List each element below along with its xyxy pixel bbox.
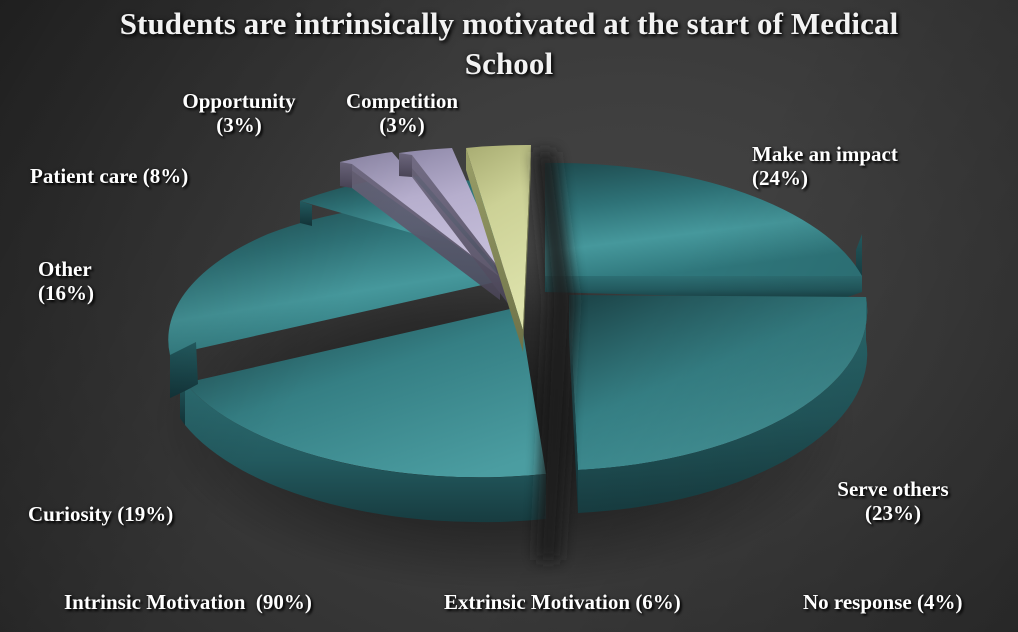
slice-label-other-pct: (16%) xyxy=(38,281,94,305)
slice-label-other-name: Other xyxy=(38,257,92,281)
slice-label-make-an-impact: Make an impact(24%) xyxy=(752,143,952,190)
slice-label-serve-others: Serve others(23%) xyxy=(813,478,973,525)
slice-label-other: Other(16%) xyxy=(38,258,148,305)
slice-label-serve-others-name: Serve others xyxy=(837,477,948,501)
slice-label-opportunity-pct: (3%) xyxy=(216,113,262,137)
slice-label-competition-name: Competition xyxy=(346,89,458,113)
pie-chart-graphic xyxy=(0,0,1018,632)
slice-label-competition: Competition(3%) xyxy=(326,90,478,137)
slide-canvas: Students are intrinsically motivated at … xyxy=(0,0,1018,632)
group-label-intrinsic-motivation: Intrinsic Motivation (90%) xyxy=(64,591,312,615)
group-label-extrinsic-motivation: Extrinsic Motivation (6%) xyxy=(444,591,681,615)
slice-label-make-an-impact-pct: (24%) xyxy=(752,166,808,190)
slice-label-opportunity-name: Opportunity xyxy=(182,89,295,113)
slice-label-competition-pct: (3%) xyxy=(379,113,425,137)
page-title: Students are intrinsically motivated at … xyxy=(79,4,939,83)
slice-label-curiosity: Curiosity (19%) xyxy=(28,503,238,527)
slice-label-make-an-impact-name: Make an impact xyxy=(752,142,898,166)
slice-label-patient-care: Patient care (8%) xyxy=(30,165,236,189)
group-label-no-response: No response (4%) xyxy=(803,591,962,615)
slice-label-opportunity: Opportunity(3%) xyxy=(163,90,315,137)
slice-label-serve-others-pct: (23%) xyxy=(865,501,921,525)
